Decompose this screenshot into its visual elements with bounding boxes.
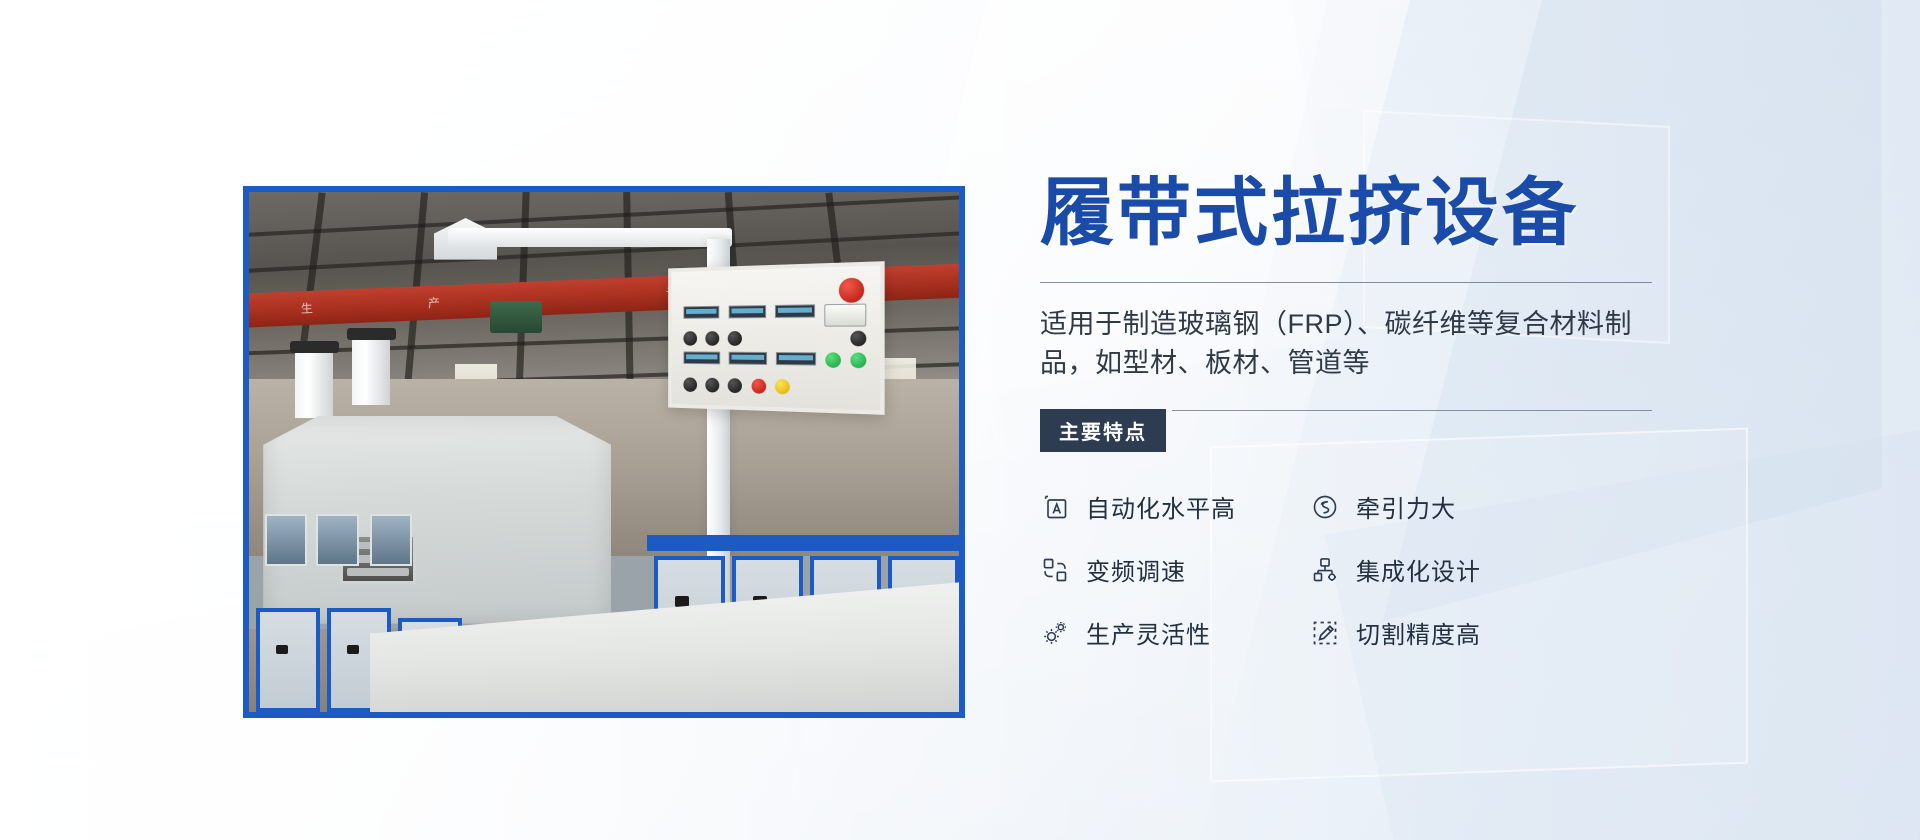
- photo-hydraulic-cylinder: [352, 338, 390, 406]
- photo-emergency-stop-button: [839, 277, 864, 302]
- photo-inspection-glass: [316, 514, 359, 566]
- photo-portal-beam: [448, 228, 732, 247]
- photo-machine-cabinet: [256, 608, 320, 712]
- product-hero-banner: 生 产 设 备: [0, 0, 1920, 840]
- product-photo-frame: 生 产 设 备: [243, 186, 965, 718]
- page-subtitle: 适用于制造玻璃钢（FRP）、碳纤维等复合材料制品，如型材、板材、管道等: [1040, 305, 1660, 383]
- crane-text: 生: [300, 299, 315, 317]
- precision-pen-dotted-icon: [1310, 618, 1340, 648]
- photo-inspection-glass: [370, 514, 413, 566]
- feature-item-integration[interactable]: 集成化设计: [1310, 552, 1580, 587]
- feature-item-traction[interactable]: 牵引力大: [1310, 489, 1580, 524]
- status-badge: 主要特点: [1040, 409, 1166, 452]
- feature-label: 集成化设计: [1356, 552, 1481, 587]
- frequency-nodes-icon: [1040, 555, 1070, 585]
- feature-label: 切割精度高: [1356, 615, 1481, 650]
- feature-list: 自动化水平高 牵引力大: [1040, 489, 1700, 650]
- feature-item-automation[interactable]: 自动化水平高: [1040, 489, 1310, 524]
- product-photo: 生 产 设 备: [249, 192, 959, 712]
- feature-item-flexibility[interactable]: 生产灵活性: [1040, 615, 1310, 650]
- feature-item-frequency[interactable]: 变频调速: [1040, 552, 1310, 587]
- feature-label: 变频调速: [1086, 552, 1186, 587]
- title-divider: [1040, 282, 1652, 283]
- photo-control-panel: [668, 261, 885, 414]
- photo-crane-hoist: [490, 301, 542, 333]
- feature-label: 自动化水平高: [1086, 489, 1236, 524]
- photo-hydraulic-cylinder: [295, 351, 333, 419]
- photo-inspection-glass: [265, 514, 308, 566]
- feature-label: 牵引力大: [1356, 489, 1456, 524]
- badge-divider: [1172, 410, 1652, 411]
- letter-a-in-frame-icon: [1040, 492, 1070, 522]
- page-title: 履带式拉挤设备: [1040, 175, 1700, 252]
- feature-item-cutting-precision[interactable]: 切割精度高: [1310, 615, 1580, 650]
- hero-content: 履带式拉挤设备 适用于制造玻璃钢（FRP）、碳纤维等复合材料制品，如型材、板材、…: [1040, 175, 1700, 650]
- gears-icon: [1040, 618, 1070, 648]
- crane-text: 产: [427, 294, 442, 312]
- feature-label: 生产灵活性: [1086, 615, 1211, 650]
- traction-waves-circle-icon: [1310, 492, 1340, 522]
- photo-frame-rail: [647, 535, 959, 551]
- photo-press-housing: [263, 416, 611, 624]
- features-heading-row: 主要特点: [1040, 409, 1700, 445]
- integration-gear-tree-icon: [1310, 555, 1340, 585]
